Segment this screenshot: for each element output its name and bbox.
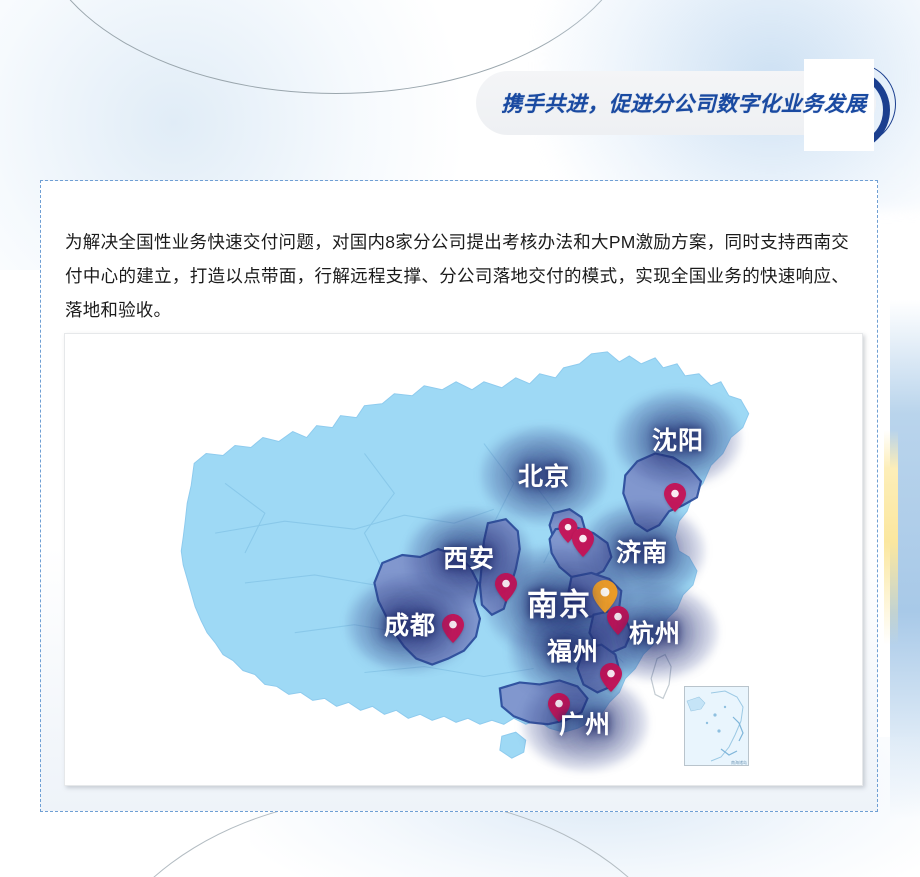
body-paragraph: 为解决全国性业务快速交付问题，对国内8家分公司提出考核办法和大PM激励方案，同时… xyxy=(65,225,849,327)
map-pin-chengdu[interactable] xyxy=(442,614,464,643)
map-hainan-island xyxy=(500,732,526,758)
city-label-beijing: 北京 xyxy=(518,457,570,493)
city-label-jinan: 济南 xyxy=(616,533,668,569)
panel-body: 为解决全国性业务快速交付问题，对国内8家分公司提出考核办法和大PM激励方案，同时… xyxy=(41,181,877,811)
map-pin-jinan[interactable] xyxy=(572,528,594,557)
city-label-xian: 西安 xyxy=(443,539,495,575)
map-stage: 沈阳 北京 济南 西安 南京 成都 杭州 福州 广州 xyxy=(65,334,862,785)
map-pin-fuzhou[interactable] xyxy=(600,663,622,692)
title-banner: 携手共进，促进分公司数字化业务发展 xyxy=(476,63,896,143)
content-panel: 为解决全国性业务快速交付问题，对国内8家分公司提出考核办法和大PM激励方案，同时… xyxy=(40,180,878,812)
map-taiwan-island xyxy=(651,655,671,699)
banner-title: 携手共进，促进分公司数字化业务发展 xyxy=(498,71,870,135)
china-branch-map-card: 沈阳 北京 济南 西安 南京 成都 杭州 福州 广州 xyxy=(64,333,863,786)
decorative-stripe-yellow xyxy=(884,430,898,645)
inset-label: 南海诸岛 xyxy=(731,759,747,765)
map-pin-hangzhou[interactable] xyxy=(607,606,629,635)
map-pin-xian[interactable] xyxy=(495,573,517,602)
city-label-fuzhou: 福州 xyxy=(547,632,599,668)
city-label-chengdu: 成都 xyxy=(384,606,436,642)
city-label-guangzhou: 广州 xyxy=(559,705,611,741)
map-pin-shenyang[interactable] xyxy=(664,483,686,512)
city-label-nanjing: 南京 xyxy=(527,580,591,625)
city-label-hangzhou: 杭州 xyxy=(629,614,681,650)
city-label-shenyang: 沈阳 xyxy=(652,421,704,457)
south-china-sea-inset: 南海诸岛 xyxy=(684,686,749,766)
